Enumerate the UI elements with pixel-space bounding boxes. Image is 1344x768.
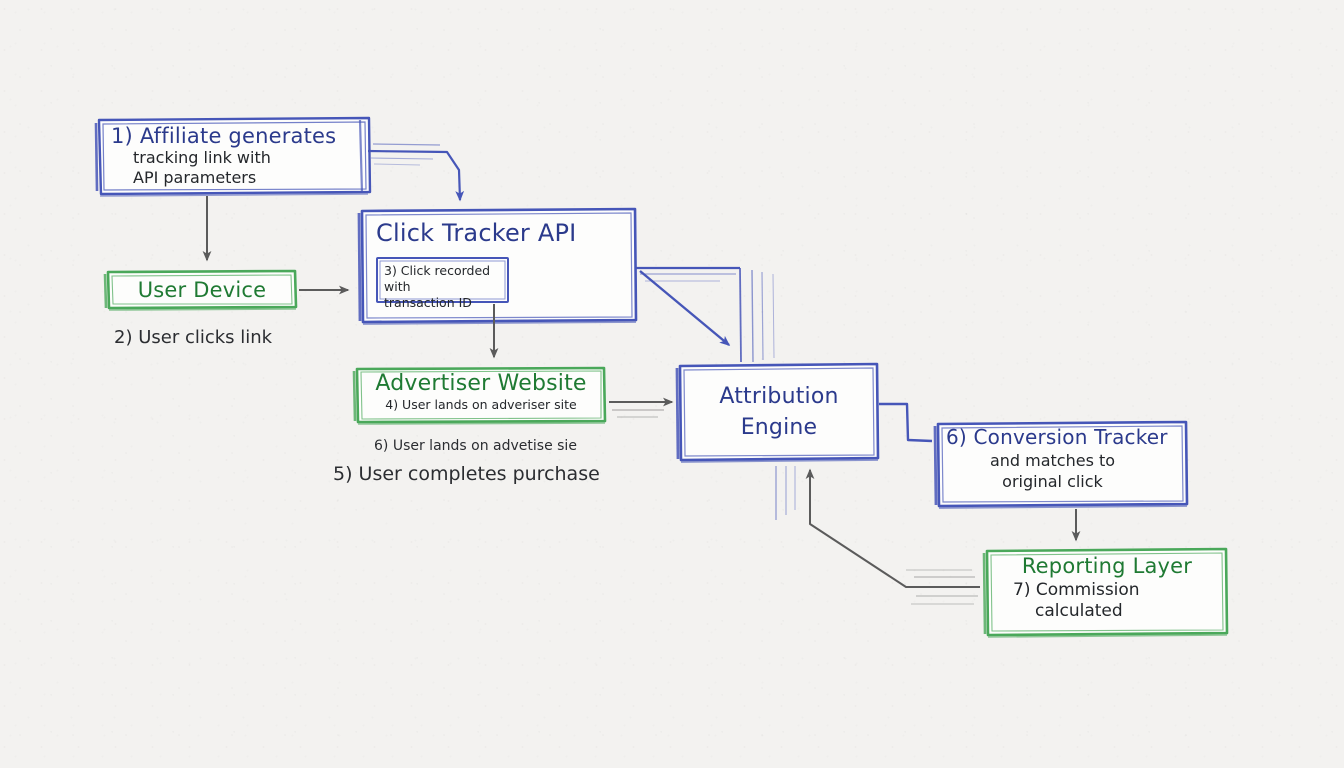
label-user-clicks-link: 2) User clicks link [114, 327, 272, 348]
reporting-layer-sub-line-2: calculated [987, 601, 1227, 622]
connector-advertiser-to-attribution [609, 402, 672, 417]
node-user-device[interactable]: User Device [108, 271, 296, 308]
node-conversion-tracker[interactable]: 6) Conversion Tracker and matches to ori… [938, 422, 1187, 505]
click-recorded-note: 3) Click recorded with transaction ID [377, 258, 508, 302]
node-affiliate[interactable]: 1) Affiliate generates tracking link wit… [99, 118, 370, 194]
click-recorded-line-1: 3) Click recorded with [384, 263, 508, 295]
affiliate-line-3: API parameters [111, 168, 360, 188]
reporting-layer-title: Reporting Layer [987, 553, 1227, 580]
node-attribution-engine[interactable]: Attribution Engine [680, 364, 878, 459]
conversion-tracker-line-2: and matches to [946, 450, 1183, 471]
advertiser-website-title: Advertiser Website [357, 370, 605, 397]
conversion-tracker-line-3: original click [946, 471, 1183, 492]
affiliate-line-2: tracking link with [111, 148, 360, 168]
reporting-layer-sub-line-1: 7) Commission [987, 580, 1227, 601]
attribution-engine-line-2: Engine [741, 412, 818, 443]
connector-attribution-to-conversion [879, 404, 932, 441]
advertiser-website-subtitle: 4) User lands on adveriser site [357, 397, 605, 413]
node-reporting-layer[interactable]: Reporting Layer 7) Commission calculated [987, 549, 1227, 634]
node-advertiser-website[interactable]: Advertiser Website 4) User lands on adve… [357, 368, 605, 422]
label-user-lands-overlap: 6) User lands on advetise sie [374, 438, 577, 454]
attribution-engine-line-1: Attribution [719, 381, 838, 412]
diagram-canvas [0, 0, 1344, 768]
connector-click-tracker-to-attribution [636, 268, 774, 362]
affiliate-line-1: 1) Affiliate generates [111, 124, 360, 148]
click-tracker-title: Click Tracker API [376, 217, 636, 249]
click-recorded-line-2: transaction ID [384, 295, 508, 311]
conversion-tracker-line-1: 6) Conversion Tracker [946, 424, 1183, 450]
connector-affiliate-to-click-tracker [368, 144, 460, 200]
user-device-title: User Device [138, 278, 267, 302]
label-user-completes-purchase: 5) User completes purchase [333, 463, 600, 485]
attribution-sketch-strokes [776, 466, 795, 520]
